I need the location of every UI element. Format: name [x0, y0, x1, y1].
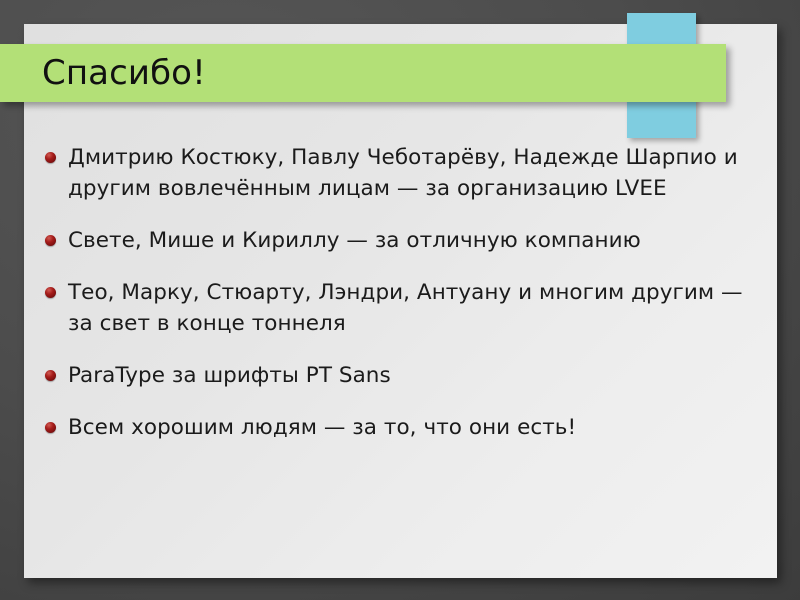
bullet-marker-icon [45, 370, 56, 381]
bullet-marker-icon [45, 422, 56, 433]
presentation-slide: Спасибо! Дмитрию Костюку, Павлу Чеботарё… [0, 0, 800, 600]
list-item-label: Тео, Марку, Стюарту, Лэндри, Антуану и м… [68, 280, 743, 336]
list-item: Дмитрию Костюку, Павлу Чеботарёву, Надеж… [24, 142, 754, 204]
list-item: ParaType за шрифты PT Sans [24, 360, 754, 391]
bullet-list: Дмитрию Костюку, Павлу Чеботарёву, Надеж… [24, 142, 754, 464]
bullet-marker-icon [45, 235, 56, 246]
list-item: Тео, Марку, Стюарту, Лэндри, Антуану и м… [24, 277, 754, 339]
title-banner: Спасибо! [0, 44, 726, 102]
list-item: Всем хорошим людям — за то, что они есть… [24, 412, 754, 443]
bullet-marker-icon [45, 152, 56, 163]
list-item: Свете, Мише и Кириллу — за отличную комп… [24, 225, 754, 256]
list-item-label: Свете, Мише и Кириллу — за отличную комп… [68, 228, 641, 253]
bullet-marker-icon [45, 287, 56, 298]
list-item-label: Дмитрию Костюку, Павлу Чеботарёву, Надеж… [68, 145, 738, 201]
page-title: Спасибо! [42, 56, 206, 90]
list-item-label: ParaType за шрифты PT Sans [68, 363, 391, 388]
list-item-label: Всем хорошим людям — за то, что они есть… [68, 415, 576, 440]
